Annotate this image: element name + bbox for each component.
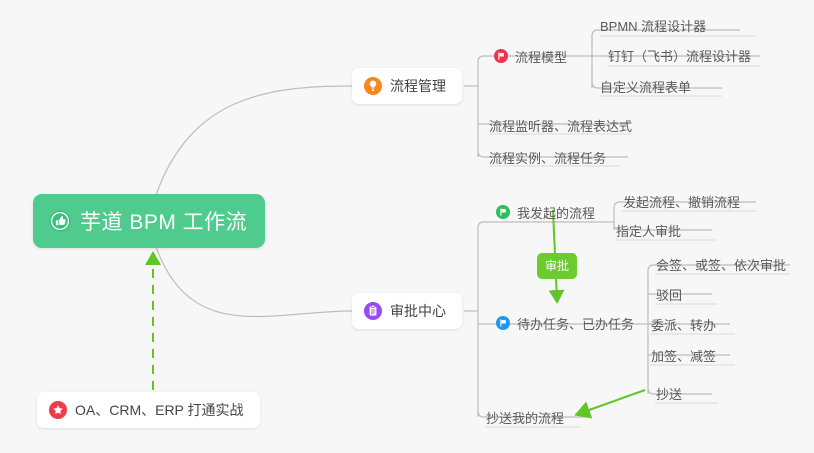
leaf-label-custom-form: 自定义流程表单: [600, 77, 691, 96]
leaf-custom-form[interactable]: 自定义流程表单: [598, 73, 697, 99]
leaf-label-cc-to-me-process: 抄送我的流程: [486, 408, 564, 427]
note-node-integration[interactable]: OA、CRM、ERP 打通实战: [37, 392, 260, 428]
thumbs-up-icon: [49, 210, 71, 232]
approve-tag[interactable]: 审批: [537, 253, 577, 279]
leaf-label-my-started-process: 我发起的流程: [517, 203, 595, 222]
star-icon: [49, 401, 67, 419]
link-root-to-approval-center: [155, 244, 352, 317]
leaf-add-remove-sign[interactable]: 加签、减签: [649, 342, 722, 368]
leaf-label-todo-done-tasks: 待办任务、已办任务: [517, 314, 634, 333]
leaf-label-dingtalk-designer: 钉钉（飞书）流程设计器: [608, 46, 751, 65]
clipboard-icon: [364, 302, 382, 320]
leaf-dingtalk-designer[interactable]: 钉钉（飞书）流程设计器: [606, 42, 757, 68]
leaf-label-start-cancel-process: 发起流程、撤销流程: [623, 192, 740, 211]
leaf-todo-done-tasks[interactable]: 待办任务、已办任务: [494, 310, 640, 336]
lightbulb-icon: [364, 77, 382, 95]
leaf-my-started-process[interactable]: 我发起的流程: [494, 199, 601, 225]
leaf-assignee-approval[interactable]: 指定人审批: [614, 217, 687, 243]
leaf-countersign[interactable]: 会签、或签、依次审批: [654, 251, 792, 277]
leaf-label-assignee-approval: 指定人审批: [616, 221, 681, 240]
leaf-label-delegate-transfer: 委派、转办: [651, 315, 716, 334]
note-label-integration: OA、CRM、ERP 打通实战: [75, 400, 244, 420]
leaf-start-cancel-process[interactable]: 发起流程、撤销流程: [621, 188, 746, 214]
leaf-delegate-transfer[interactable]: 委派、转办: [649, 311, 722, 337]
leaf-label-process-model: 流程模型: [515, 47, 567, 66]
link-root-to-process-management: [155, 86, 352, 198]
leaf-label-reject: 驳回: [656, 285, 682, 304]
leaf-process-listener[interactable]: 流程监听器、流程表达式: [487, 112, 638, 138]
leaf-process-model[interactable]: 流程模型: [492, 43, 573, 69]
flag-red-icon: [494, 49, 508, 63]
branch-label-approval-center: 审批中心: [390, 301, 446, 321]
mindmap-canvas: 芋道 BPM 工作流 流程管理 审批中心: [0, 0, 814, 453]
leaf-label-carbon-copy: 抄送: [656, 384, 682, 403]
leaf-bpmn-designer[interactable]: BPMN 流程设计器: [598, 12, 712, 38]
root-node[interactable]: 芋道 BPM 工作流: [33, 194, 265, 248]
root-label: 芋道 BPM 工作流: [80, 206, 247, 236]
leaf-cc-to-me-process[interactable]: 抄送我的流程: [484, 404, 570, 430]
branch-node-process-management[interactable]: 流程管理: [352, 68, 462, 104]
flag-green-icon: [496, 205, 510, 219]
branch-label-process-management: 流程管理: [390, 76, 446, 96]
leaf-process-instance[interactable]: 流程实例、流程任务: [487, 144, 612, 170]
leaf-carbon-copy[interactable]: 抄送: [654, 380, 688, 406]
branch-node-approval-center[interactable]: 审批中心: [352, 293, 462, 329]
arrow-cc-to-my-cc: [578, 390, 645, 414]
leaf-label-process-listener: 流程监听器、流程表达式: [489, 116, 632, 135]
leaf-label-countersign: 会签、或签、依次审批: [656, 255, 786, 274]
approve-tag-label: 审批: [545, 259, 569, 273]
flag-blue-icon: [496, 316, 510, 330]
leaf-label-process-instance: 流程实例、流程任务: [489, 148, 606, 167]
leaf-label-add-remove-sign: 加签、减签: [651, 346, 716, 365]
leaf-label-bpmn-designer: BPMN 流程设计器: [600, 16, 706, 35]
leaf-reject[interactable]: 驳回: [654, 281, 688, 307]
